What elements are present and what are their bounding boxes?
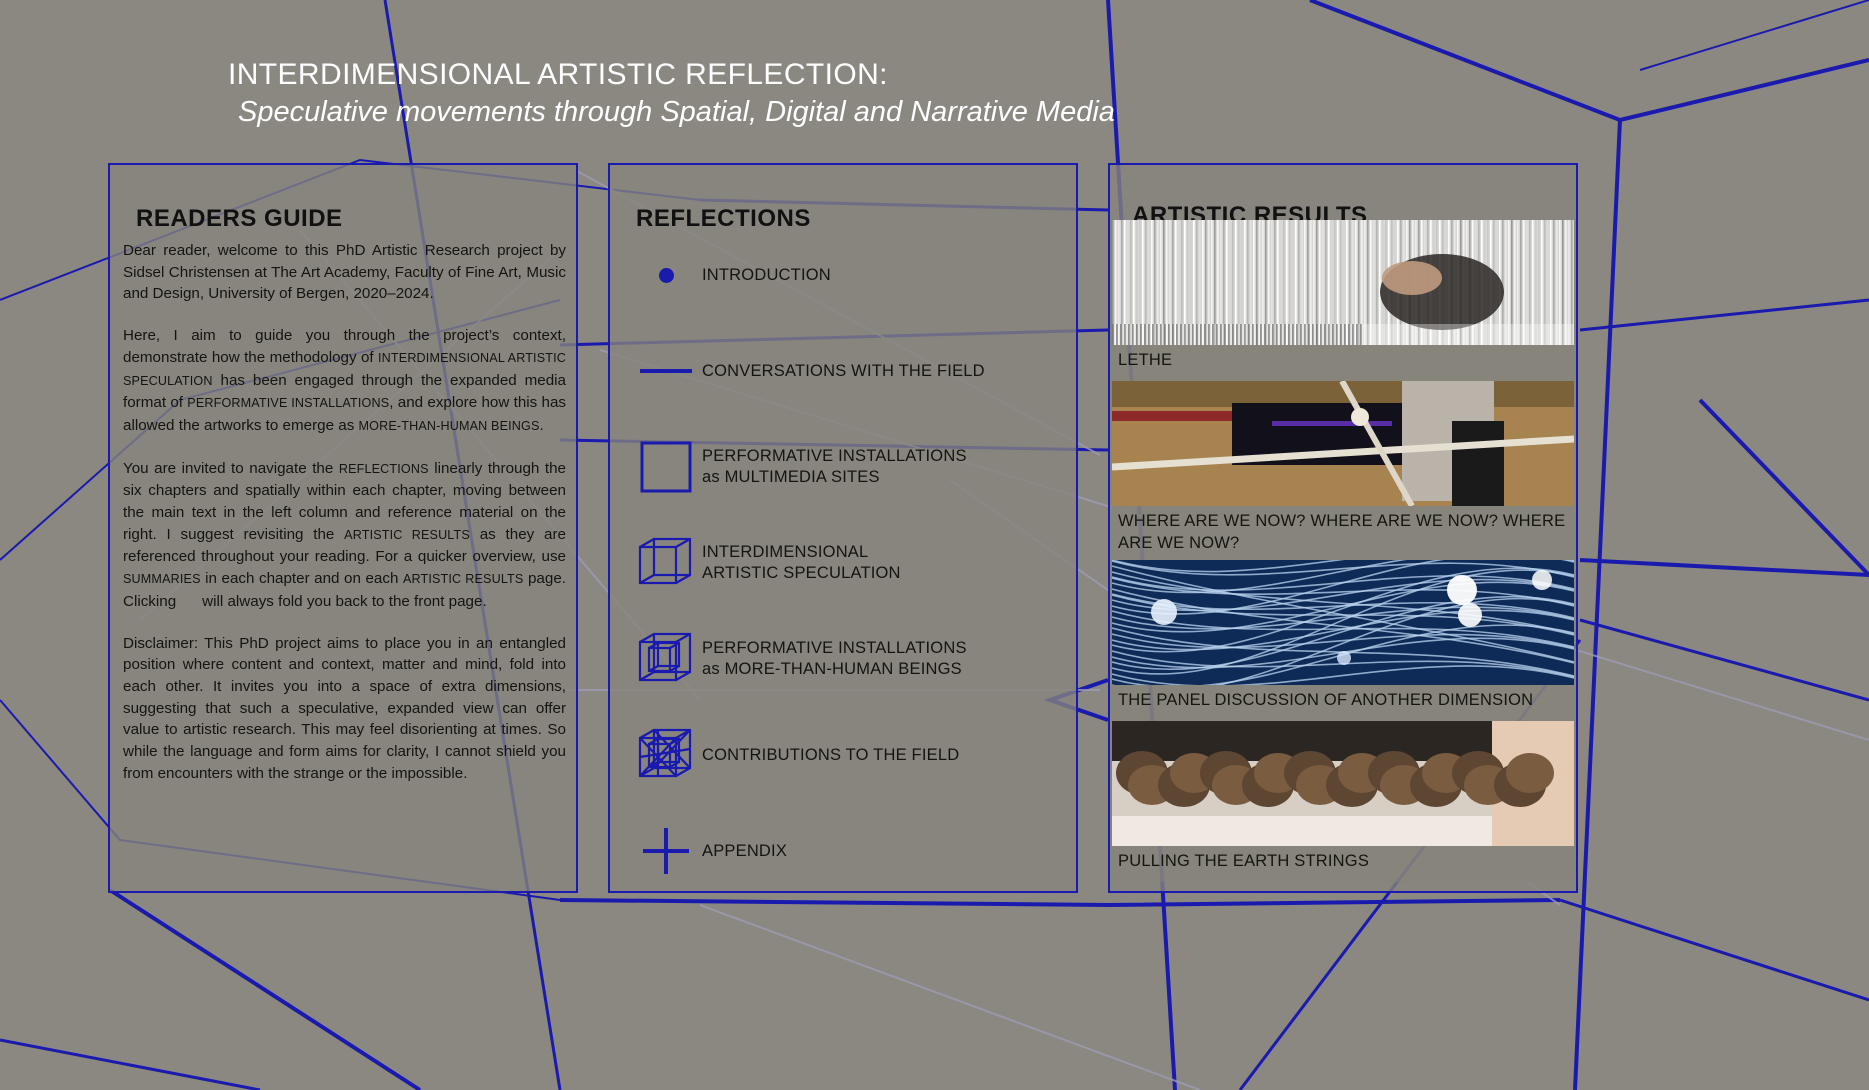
readers-guide-paragraph: Dear reader, welcome to this PhD Artisti… [123,240,566,305]
rope-rigging-performer-thumbnail[interactable] [1112,381,1574,506]
artistic-result-item[interactable]: LETHE [1112,220,1574,381]
reflections-item-label-line1: PERFORMATIVE INSTALLATIONS [702,638,967,659]
reflections-item-performative-installations[interactable]: PERFORMATIVE INSTALLATIONSas MULTIMEDIA … [630,419,1060,515]
readers-guide-panel: READERS GUIDE Dear reader, welcome to th… [108,163,578,893]
reflections-nav-list: INTRODUCTIONCONVERSATIONS WITH THE FIELD… [630,227,1060,899]
artistic-result-item[interactable]: PULLING THE EARTH STRINGS [1112,721,1574,882]
reflections-item-label: INTRODUCTION [702,265,831,286]
dash-icon[interactable] [630,369,702,373]
reflections-item-label-line1: CONTRIBUTIONS TO THE FIELD [702,745,959,766]
reflections-item-interdimensional[interactable]: INTERDIMENSIONALARTISTIC SPECULATION [630,515,1060,611]
body-text-run: Disclaimer: This PhD project aims to pla… [123,635,566,782]
cube-icon[interactable] [630,537,702,589]
term-smallcaps: REFLECTIONS [339,462,429,476]
artistic-result-caption: WHERE ARE WE NOW? WHERE ARE WE NOW? WHER… [1112,506,1574,560]
body-text-run: will always fold you back to the front p… [202,593,487,610]
body-text-run: . [540,417,544,434]
artistic-result-caption: LETHE [1112,345,1574,381]
readers-guide-heading: READERS GUIDE [136,205,343,233]
artistic-result-caption: PULLING THE EARTH STRINGS [1112,846,1574,882]
braided-hair-rope-thumbnail[interactable] [1112,721,1574,846]
body-text-run: Dear reader, welcome to this PhD Artisti… [123,242,566,302]
reflections-item-label: PERFORMATIVE INSTALLATIONSas MORE-THAN-H… [702,638,967,680]
page-title: INTERDIMENSIONAL ARTISTIC REFLECTION: Sp… [228,57,1115,130]
reflections-item-performative-installations[interactable]: PERFORMATIVE INSTALLATIONSas MORE-THAN-H… [630,611,1060,707]
reflections-item-label-line1: INTERDIMENSIONAL [702,542,901,563]
artistic-results-list: LETHEWHERE ARE WE NOW? WHERE ARE WE NOW?… [1112,220,1574,882]
reflections-item-contributions-to-the-field[interactable]: CONTRIBUTIONS TO THE FIELD [630,707,1060,803]
reflections-item-label: APPENDIX [702,841,787,862]
readers-guide-paragraph: Here, I aim to guide you through the pro… [123,325,566,438]
plus-icon[interactable] [630,828,702,874]
loom-white-threads-hands-thumbnail[interactable] [1112,220,1574,345]
reflections-item-label-line1: PERFORMATIVE INSTALLATIONS [702,446,967,467]
reflections-item-label-line2: ARTISTIC SPECULATION [702,563,901,584]
reflections-item-conversations-with-the-field[interactable]: CONVERSATIONS WITH THE FIELD [630,323,1060,419]
reflections-item-label: PERFORMATIVE INSTALLATIONSas MULTIMEDIA … [702,446,967,488]
reflections-item-label: CONTRIBUTIONS TO THE FIELD [702,745,959,766]
readers-guide-paragraph: Disclaimer: This PhD project aims to pla… [123,633,566,785]
title-line-2: Speculative movements through Spatial, D… [238,94,1115,130]
reflections-item-introduction[interactable]: INTRODUCTION [630,227,1060,323]
term-smallcaps: PERFORMATIVE INSTALLATIONS [187,396,389,410]
reflections-panel: REFLECTIONS INTRODUCTIONCONVERSATIONS WI… [608,163,1078,893]
artistic-result-item[interactable]: WHERE ARE WE NOW? WHERE ARE WE NOW? WHER… [1112,381,1574,560]
readers-guide-paragraph: You are invited to navigate the REFLECTI… [123,458,566,613]
body-text-run: You are invited to navigate the [123,460,339,477]
reflections-item-label-line1: APPENDIX [702,841,787,862]
reflections-item-appendix[interactable]: APPENDIX [630,803,1060,899]
reflections-item-label-line1: CONVERSATIONS WITH THE FIELD [702,361,985,382]
term-smallcaps: ARTISTIC RESULTS [403,572,524,586]
body-text-run: in each chapter and on each [201,570,403,587]
artistic-result-caption: THE PANEL DISCUSSION OF ANOTHER DIMENSIO… [1112,685,1574,721]
blue-light-filaments-thumbnail[interactable] [1112,560,1574,685]
term-smallcaps: SUMMARIES [123,572,201,586]
dot-icon[interactable] [630,268,702,283]
reflections-item-label: INTERDIMENSIONALARTISTIC SPECULATION [702,542,901,584]
artistic-results-panel: ARTISTIC RESULTS LETHEWHERE ARE WE NOW? … [1108,163,1578,893]
term-smallcaps: MORE-THAN-HUMAN BEINGS [359,419,540,433]
square-icon[interactable] [630,441,702,493]
term-smallcaps: ARTISTIC RESULTS [344,528,470,542]
readers-guide-body: Dear reader, welcome to this PhD Artisti… [123,240,566,804]
tesseract-icon[interactable] [630,632,702,686]
reflections-item-label: CONVERSATIONS WITH THE FIELD [702,361,985,382]
reflections-item-label-line2: as MORE-THAN-HUMAN BEINGS [702,659,967,680]
reflections-item-label-line2: as MULTIMEDIA SITES [702,467,967,488]
hyper-lattice-icon[interactable] [630,728,702,782]
reflections-item-label-line1: INTRODUCTION [702,265,831,286]
artistic-result-item[interactable]: THE PANEL DISCUSSION OF ANOTHER DIMENSIO… [1112,560,1574,721]
title-line-1: INTERDIMENSIONAL ARTISTIC REFLECTION: [228,57,1115,94]
